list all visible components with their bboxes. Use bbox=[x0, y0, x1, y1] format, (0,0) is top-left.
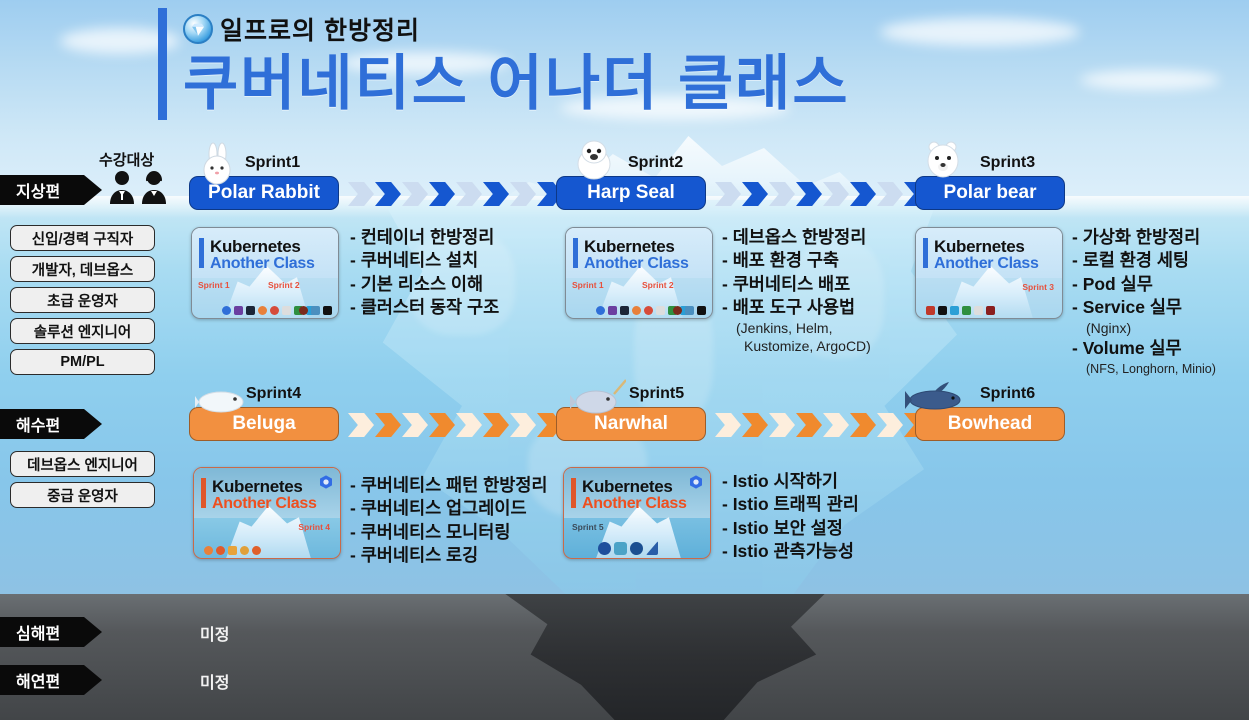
card-accent-bar bbox=[923, 238, 928, 268]
chevron-icon bbox=[796, 413, 822, 437]
sprint5-topic-0: - Istio 시작하기 bbox=[722, 470, 859, 493]
chevron-icon bbox=[456, 413, 482, 437]
sprint6-label: Sprint6 bbox=[980, 385, 1035, 403]
sprint5-topic-2: - Istio 보안 설정 bbox=[722, 517, 859, 540]
sprint4-topic-0: - 쿠버네티스 패턴 한방정리 bbox=[350, 474, 548, 497]
polar-bear-icon bbox=[920, 137, 966, 190]
sprint5-topics: - Istio 시작하기 - Istio 트래픽 관리 - Istio 보안 설… bbox=[722, 470, 859, 563]
sprint3-topic-0: - 가상화 한방정리 bbox=[1072, 226, 1216, 249]
card-title-line1: Kubernetes bbox=[212, 477, 303, 497]
title-accent-bar bbox=[158, 8, 167, 120]
sprint4-topic-2: - 쿠버네티스 모니터링 bbox=[350, 521, 548, 544]
diamond-gem-icon bbox=[183, 14, 213, 44]
chevron-icon bbox=[877, 182, 903, 206]
card-accent-bar bbox=[571, 478, 576, 508]
sprint1-topic-0: - 컨테이너 한방정리 bbox=[350, 226, 499, 249]
sprint2-topic-1: - 배포 환경 구축 bbox=[722, 249, 871, 272]
sprint1-topic-1: - 쿠버네티스 설치 bbox=[350, 249, 499, 272]
card-title-line2: Another Class bbox=[210, 255, 315, 273]
sprint4-to-5-arrow bbox=[348, 412, 563, 438]
chevron-icon bbox=[850, 182, 876, 206]
sprint4-label: Sprint4 bbox=[246, 385, 301, 403]
card-accent-bar bbox=[573, 238, 578, 268]
chevron-icon bbox=[375, 413, 401, 437]
sprint3-course-card[interactable]: Kubernetes Another Class Sprint 3 bbox=[915, 227, 1063, 319]
brand-subtitle: 일프로의 한방정리 bbox=[220, 11, 420, 47]
sprint2-subnote-1: Kustomize, ArgoCD) bbox=[722, 337, 871, 355]
sprint2-topics: - 데브옵스 한방정리 - 배포 환경 구축 - 쿠버네티스 배포 - 배포 도… bbox=[722, 226, 871, 355]
card-accent-bar bbox=[201, 478, 206, 508]
section-tag-deep: 심해편 bbox=[0, 617, 102, 647]
audience-sea-item-0: 데브옵스 엔지니어 bbox=[10, 451, 155, 477]
polar-rabbit-icon bbox=[195, 140, 241, 193]
sprint4-topic-1: - 쿠버네티스 업그레이드 bbox=[350, 497, 548, 520]
card-title-line1: Kubernetes bbox=[582, 477, 673, 497]
sprint2-course-card[interactable]: Kubernetes Another Class Sprint 1 Sprint… bbox=[565, 227, 713, 319]
card-title-line2: Another Class bbox=[584, 255, 689, 273]
card-tech-icons-right bbox=[673, 306, 706, 315]
audience-person-icons bbox=[108, 170, 168, 209]
audience-heading: 수강대상 bbox=[99, 149, 154, 170]
sprint2-topic-2: - 쿠버네티스 배포 bbox=[722, 273, 871, 296]
brand-row: 일프로의 한방정리 bbox=[183, 6, 850, 52]
sprint3-topic-2: - Pod 실무 bbox=[1072, 273, 1216, 296]
chevron-icon bbox=[483, 182, 509, 206]
card-tech-icons bbox=[204, 546, 261, 555]
card-sprint-tag-a: Sprint 3 bbox=[1022, 282, 1054, 292]
audience-sea-item-1: 중급 운영자 bbox=[10, 482, 155, 508]
chevron-icon bbox=[769, 182, 795, 206]
chevron-icon bbox=[483, 413, 509, 437]
sprint3-topics: - 가상화 한방정리 - 로컬 환경 세팅 - Pod 실무 - Service… bbox=[1072, 226, 1216, 377]
chevron-icon bbox=[429, 182, 455, 206]
poster-title-block: 일프로의 한방정리 쿠버네티스 어나더 클래스 bbox=[158, 6, 850, 115]
audience-item-2: 초급 운영자 bbox=[10, 287, 155, 313]
sprint1-to-2-arrow bbox=[348, 181, 563, 207]
chevron-icon bbox=[742, 182, 768, 206]
chevron-icon bbox=[742, 413, 768, 437]
card-title-line1: Kubernetes bbox=[210, 237, 301, 257]
chevron-icon bbox=[877, 413, 903, 437]
chevron-icon bbox=[823, 182, 849, 206]
deep-value: 미정 bbox=[200, 621, 229, 645]
chevron-icon bbox=[348, 413, 374, 437]
section-tag-ground: 지상편 bbox=[0, 175, 102, 205]
chevron-icon bbox=[402, 182, 428, 206]
sprint5-label: Sprint5 bbox=[629, 385, 684, 403]
chevron-icon bbox=[796, 182, 822, 206]
sprint4-course-card[interactable]: Kubernetes Another Class Sprint 4 bbox=[193, 467, 341, 559]
card-tech-icons bbox=[926, 306, 995, 315]
sprint1-topic-3: - 클러스터 동작 구조 bbox=[350, 296, 499, 319]
kubernetes-logo-icon bbox=[318, 474, 334, 490]
audience-item-4: PM/PL bbox=[10, 349, 155, 375]
sprint1-topics: - 컨테이너 한방정리 - 쿠버네티스 설치 - 기본 리소스 이해 - 클러스… bbox=[350, 226, 499, 319]
card-sprint-tag-a: Sprint 4 bbox=[298, 522, 330, 532]
card-sprint-tag-a: Sprint 5 bbox=[572, 522, 604, 532]
chevron-icon bbox=[823, 413, 849, 437]
chevron-icon bbox=[510, 182, 536, 206]
card-sprint-tag-a: Sprint 1 bbox=[572, 280, 604, 290]
harp-seal-icon bbox=[570, 138, 618, 189]
sprint4-topics: - 쿠버네티스 패턴 한방정리 - 쿠버네티스 업그레이드 - 쿠버네티스 모니… bbox=[350, 474, 548, 567]
sprint1-label: Sprint1 bbox=[245, 154, 300, 172]
chevron-icon bbox=[850, 413, 876, 437]
sprint2-topic-3: - 배포 도구 사용법 bbox=[722, 296, 871, 319]
chevron-icon bbox=[429, 413, 455, 437]
sprint2-subnote-0: (Jenkins, Helm, bbox=[722, 319, 871, 337]
sprint3-topic-1: - 로컬 환경 세팅 bbox=[1072, 249, 1216, 272]
audience-item-0: 신입/경력 구직자 bbox=[10, 225, 155, 251]
chevron-icon bbox=[769, 413, 795, 437]
sprint3-subnote-service: (Nginx) bbox=[1072, 319, 1216, 337]
sprint1-course-card[interactable]: Kubernetes Another Class Sprint 1 Sprint… bbox=[191, 227, 339, 319]
card-title-line1: Kubernetes bbox=[934, 237, 1025, 257]
kubernetes-logo-icon bbox=[688, 474, 704, 490]
person-male-icon bbox=[108, 170, 136, 209]
card-tech-icons-right bbox=[299, 306, 332, 315]
chevron-icon bbox=[402, 413, 428, 437]
section-tag-abyss: 해연편 bbox=[0, 665, 102, 695]
sprint5-to-6-arrow bbox=[715, 412, 930, 438]
card-sprint-tag-a: Sprint 1 bbox=[198, 280, 230, 290]
card-sprint-tag-b: Sprint 2 bbox=[268, 280, 300, 290]
chevron-icon bbox=[456, 182, 482, 206]
sprint1-topic-2: - 기본 리소스 이해 bbox=[350, 273, 499, 296]
abyss-value: 미정 bbox=[200, 669, 229, 693]
sprint4-topic-3: - 쿠버네티스 로깅 bbox=[350, 544, 548, 567]
sprint3-topic-3: - Service 실무 bbox=[1072, 296, 1216, 319]
section-tag-sea: 해수편 bbox=[0, 409, 102, 439]
chevron-icon bbox=[715, 182, 741, 206]
narwhal-icon bbox=[570, 378, 626, 425]
chevron-icon bbox=[375, 182, 401, 206]
sprint2-topic-0: - 데브옵스 한방정리 bbox=[722, 226, 871, 249]
card-tech-icons bbox=[598, 541, 658, 555]
card-accent-bar bbox=[199, 238, 204, 268]
sprint3-topic-4: - Volume 실무 bbox=[1072, 337, 1216, 360]
chevron-icon bbox=[510, 413, 536, 437]
poster-canvas: 일프로의 한방정리 쿠버네티스 어나더 클래스 수강대상 지상편 신입/경력 구… bbox=[0, 0, 1249, 720]
card-sprint-tag-b: Sprint 2 bbox=[642, 280, 674, 290]
page-title: 쿠버네티스 어나더 클래스 bbox=[183, 52, 850, 115]
card-title-line1: Kubernetes bbox=[584, 237, 675, 257]
bowhead-whale-icon bbox=[905, 382, 967, 423]
card-title-line2: Another Class bbox=[582, 495, 687, 513]
chevron-icon bbox=[715, 413, 741, 437]
audience-item-1: 개발자, 데브옵스 bbox=[10, 256, 155, 282]
sprint2-to-3-arrow bbox=[715, 181, 930, 207]
card-title-line2: Another Class bbox=[212, 495, 317, 513]
audience-item-3: 솔루션 엔지니어 bbox=[10, 318, 155, 344]
card-title-line2: Another Class bbox=[934, 255, 1039, 273]
person-female-icon bbox=[140, 170, 168, 209]
chevron-icon bbox=[348, 182, 374, 206]
sprint5-topic-1: - Istio 트래픽 관리 bbox=[722, 493, 859, 516]
sprint5-topic-3: - Istio 관측가능성 bbox=[722, 540, 859, 563]
sprint5-course-card[interactable]: Kubernetes Another Class Sprint 5 bbox=[563, 467, 711, 559]
sprint3-subnote-volume: (NFS, Longhorn, Minio) bbox=[1072, 361, 1216, 377]
sprint3-label: Sprint3 bbox=[980, 154, 1035, 172]
sprint2-label: Sprint2 bbox=[628, 154, 683, 172]
beluga-whale-icon bbox=[195, 385, 251, 424]
